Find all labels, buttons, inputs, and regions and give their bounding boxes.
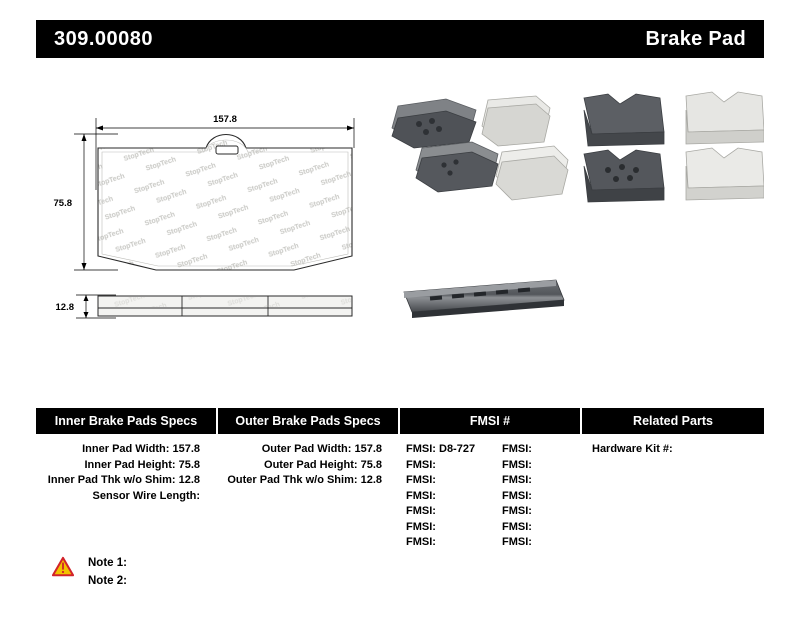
outer-pad-height: Outer Pad Height: 75.8 — [218, 458, 382, 474]
fmsi-column: FMSI: D8-727 FMSI: FMSI: FMSI: FMSI: FMS… — [400, 442, 582, 551]
fmsi-entry: FMSI: D8-727 — [406, 442, 502, 458]
svg-text:12.8: 12.8 — [56, 302, 75, 313]
fmsi-entry: FMSI: — [502, 520, 532, 536]
technical-drawing: StopTech StopTech 157.8 — [36, 70, 764, 380]
fmsi-entry: FMSI: — [406, 458, 502, 474]
hardware-kit-number: Hardware Kit #: — [592, 442, 764, 458]
header-related-parts: Related Parts — [582, 408, 764, 434]
header-outer-specs: Outer Brake Pads Specs — [218, 408, 400, 434]
pad-outline — [98, 135, 352, 271]
fmsi-entry: FMSI: — [502, 489, 532, 505]
related-parts-column: Hardware Kit #: — [582, 442, 764, 551]
fmsi-entry: FMSI: — [502, 442, 532, 458]
fmsi-entry: FMSI: — [406, 504, 502, 520]
fmsi-entry: FMSI: — [502, 535, 532, 551]
pad-photo-group-right — [584, 92, 764, 202]
pad-photo-edge-view — [404, 280, 564, 318]
fmsi-entry: FMSI: — [406, 535, 502, 551]
outer-pad-width: Outer Pad Width: 157.8 — [218, 442, 382, 458]
pad-side-view: 12.8 — [56, 295, 353, 318]
note-2: Note 2: — [88, 572, 127, 590]
fmsi-entry: FMSI: — [406, 520, 502, 536]
warning-icon — [52, 556, 74, 578]
pad-center-notch — [216, 146, 238, 154]
inner-pad-height: Inner Pad Height: 75.8 — [36, 458, 200, 474]
product-type-label: Brake Pad — [645, 28, 746, 51]
fmsi-list-right: FMSI: FMSI: FMSI: FMSI: FMSI: FMSI: FMSI… — [502, 442, 532, 551]
pad-front-view: 157.8 75.8 — [54, 114, 355, 270]
notes-text: Note 1: Note 2: — [88, 554, 127, 590]
sensor-wire-length: Sensor Wire Length: — [36, 489, 200, 505]
header-fmsi: FMSI # — [400, 408, 582, 434]
svg-text:157.8: 157.8 — [213, 114, 237, 125]
spec-table: Inner Brake Pads Specs Outer Brake Pads … — [36, 408, 764, 551]
fmsi-entry: FMSI: — [502, 473, 532, 489]
svg-text:75.8: 75.8 — [54, 198, 73, 209]
spec-table-body: Inner Pad Width: 157.8 Inner Pad Height:… — [36, 434, 764, 551]
inner-pad-thickness: Inner Pad Thk w/o Shim: 12.8 — [36, 473, 200, 489]
fmsi-entry: FMSI: — [406, 473, 502, 489]
inner-specs-column: Inner Pad Width: 157.8 Inner Pad Height:… — [36, 442, 218, 551]
note-1: Note 1: — [88, 554, 127, 572]
outer-specs-column: Outer Pad Width: 157.8 Outer Pad Height:… — [218, 442, 400, 551]
notes-section: Note 1: Note 2: — [52, 554, 127, 590]
fmsi-entry: FMSI: — [502, 458, 532, 474]
inner-pad-width: Inner Pad Width: 157.8 — [36, 442, 200, 458]
part-number: 309.00080 — [54, 28, 153, 51]
spec-table-header-row: Inner Brake Pads Specs Outer Brake Pads … — [36, 408, 764, 434]
fmsi-entry: FMSI: — [502, 504, 532, 520]
fmsi-list-left: FMSI: D8-727 FMSI: FMSI: FMSI: FMSI: FMS… — [406, 442, 502, 551]
fmsi-entry: FMSI: — [406, 489, 502, 505]
header-inner-specs: Inner Brake Pads Specs — [36, 408, 218, 434]
document-header: 309.00080 Brake Pad — [36, 20, 764, 58]
outer-pad-thickness: Outer Pad Thk w/o Shim: 12.8 — [218, 473, 382, 489]
pad-photo-group-left — [392, 96, 568, 200]
